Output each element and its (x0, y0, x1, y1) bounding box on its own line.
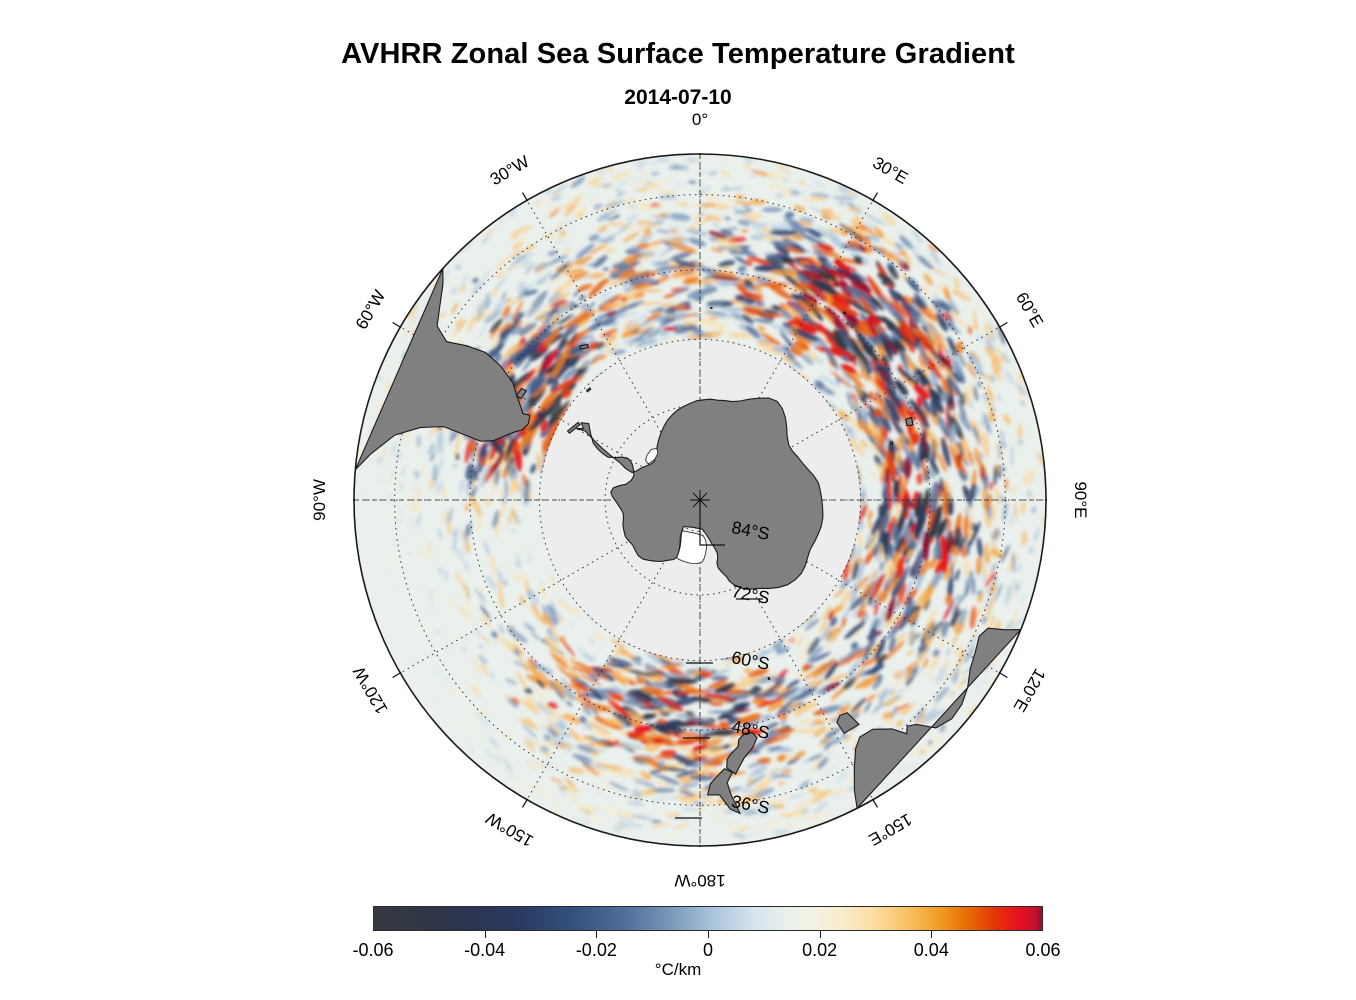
colorbar-tick-label: -0.06 (323, 940, 423, 961)
colorbar-unit-label: °C/km (0, 960, 1356, 980)
colorbar-tick-label: 0.06 (993, 940, 1093, 961)
longitude-label: 180°W (674, 870, 725, 890)
longitude-label: 90°W (310, 479, 330, 521)
colorbar-tick (708, 931, 709, 938)
colorbar-tick (820, 931, 821, 938)
colorbar-tick (485, 931, 486, 938)
figure-title: AVHRR Zonal Sea Surface Temperature Grad… (0, 38, 1356, 71)
colorbar-tick-label: -0.02 (546, 940, 646, 961)
longitude-label: 0° (692, 110, 708, 130)
colorbar-tick-label: 0.02 (770, 940, 870, 961)
colorbar[interactable]: -0.06-0.04-0.0200.020.040.06 (373, 906, 1043, 931)
colorbar-tick (596, 931, 597, 938)
colorbar-tick-label: 0 (658, 940, 758, 961)
colorbar-tick-label: 0.04 (881, 940, 981, 961)
polar-map[interactable] (353, 153, 1047, 847)
map-svg (353, 153, 1047, 847)
colorbar-tick-label: -0.04 (435, 940, 535, 961)
figure-canvas: AVHRR Zonal Sea Surface Temperature Grad… (0, 0, 1356, 1000)
colorbar-tick (931, 931, 932, 938)
colorbar-gradient (373, 906, 1043, 931)
longitude-label: 90°E (1070, 481, 1090, 518)
figure-subtitle: 2014-07-10 (0, 86, 1356, 110)
